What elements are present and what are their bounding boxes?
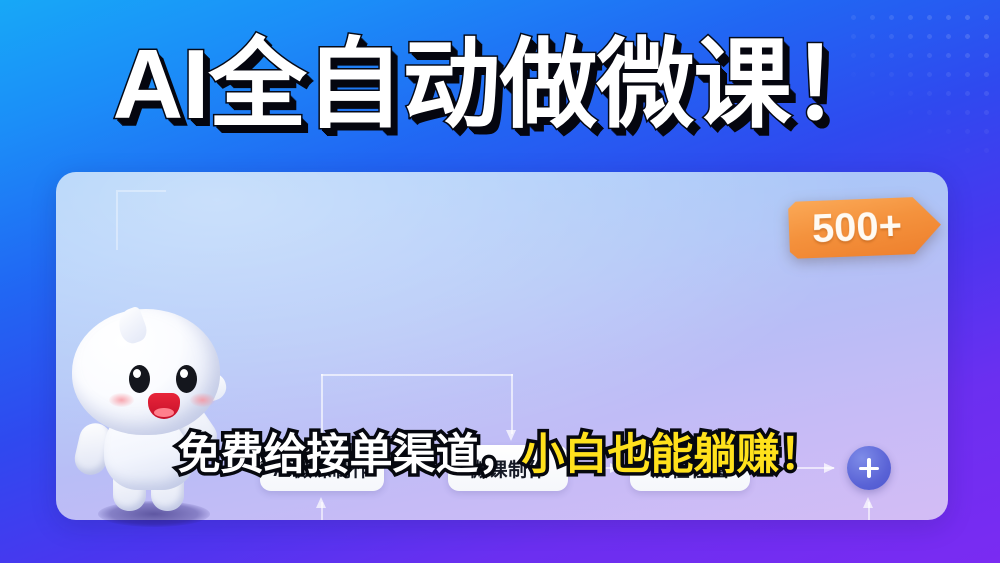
mascot-right-cheek xyxy=(190,393,215,407)
slogan-white-part: 免费给接单渠道， xyxy=(178,431,522,479)
page-title: AI全自动做微课！ xyxy=(0,34,1000,136)
badge-label: 500+ xyxy=(788,196,942,259)
mascot-right-eye xyxy=(176,365,197,393)
count-badge: 500+ xyxy=(788,196,942,259)
mascot xyxy=(50,295,260,545)
slogan-yellow-part: 小白也能躺赚！ xyxy=(522,431,823,479)
mascot-head xyxy=(72,309,220,435)
mascot-mouth xyxy=(148,393,180,419)
route-segment-horizontal-top xyxy=(321,374,513,376)
route-segment-vertical-right xyxy=(511,374,513,434)
slogan: 免费给接单渠道，小白也能躺赚！ xyxy=(0,432,1000,479)
mascot-left-cheek xyxy=(109,393,134,407)
promo-poster: AI全自动做微课！ AI微课制作 微课制作 流程程图 xyxy=(0,0,1000,563)
bottom-route-arrowhead-left xyxy=(316,497,326,508)
bottom-route-arrowhead-right xyxy=(863,497,873,508)
mascot-left-eye xyxy=(129,365,150,393)
mascot-ear xyxy=(114,306,150,347)
